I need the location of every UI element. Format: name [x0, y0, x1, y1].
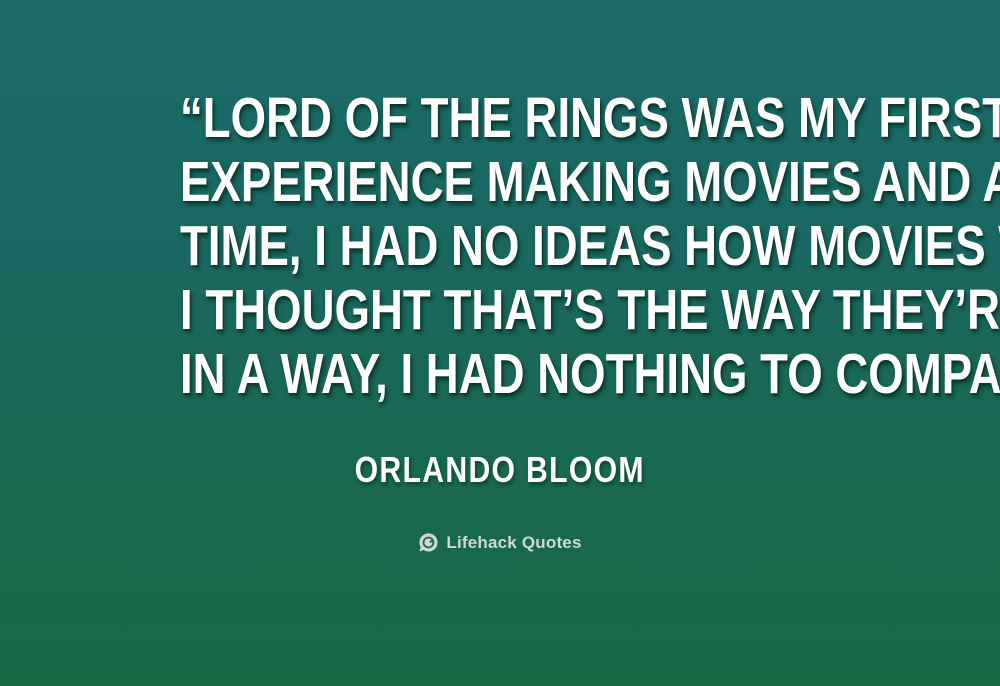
quote-line-4: I THOUGHT THAT’S THE WAY THEY’RE DONE, S… [180, 278, 820, 342]
quote-line-3: TIME, I HAD NO IDEAS HOW MOVIES WERE DON… [180, 214, 820, 278]
quote-line-5: IN A WAY, I HAD NOTHING TO COMPARE IT TO… [180, 342, 820, 406]
lifehack-circle-logo-icon [418, 532, 439, 553]
quote-line-1: “LORD OF THE RINGS WAS MY FIRST [180, 86, 820, 150]
brand-name: Lifehack Quotes [446, 532, 581, 553]
quote-card: “LORD OF THE RINGS WAS MY FIRST EXPERIEN… [0, 0, 1000, 686]
brand-footer: Lifehack Quotes [418, 532, 581, 553]
quote-author: ORLANDO BLOOM [355, 450, 645, 490]
quote-line-2: EXPERIENCE MAKING MOVIES AND AT THE [180, 150, 820, 214]
quote-text: “LORD OF THE RINGS WAS MY FIRST EXPERIEN… [180, 86, 820, 406]
